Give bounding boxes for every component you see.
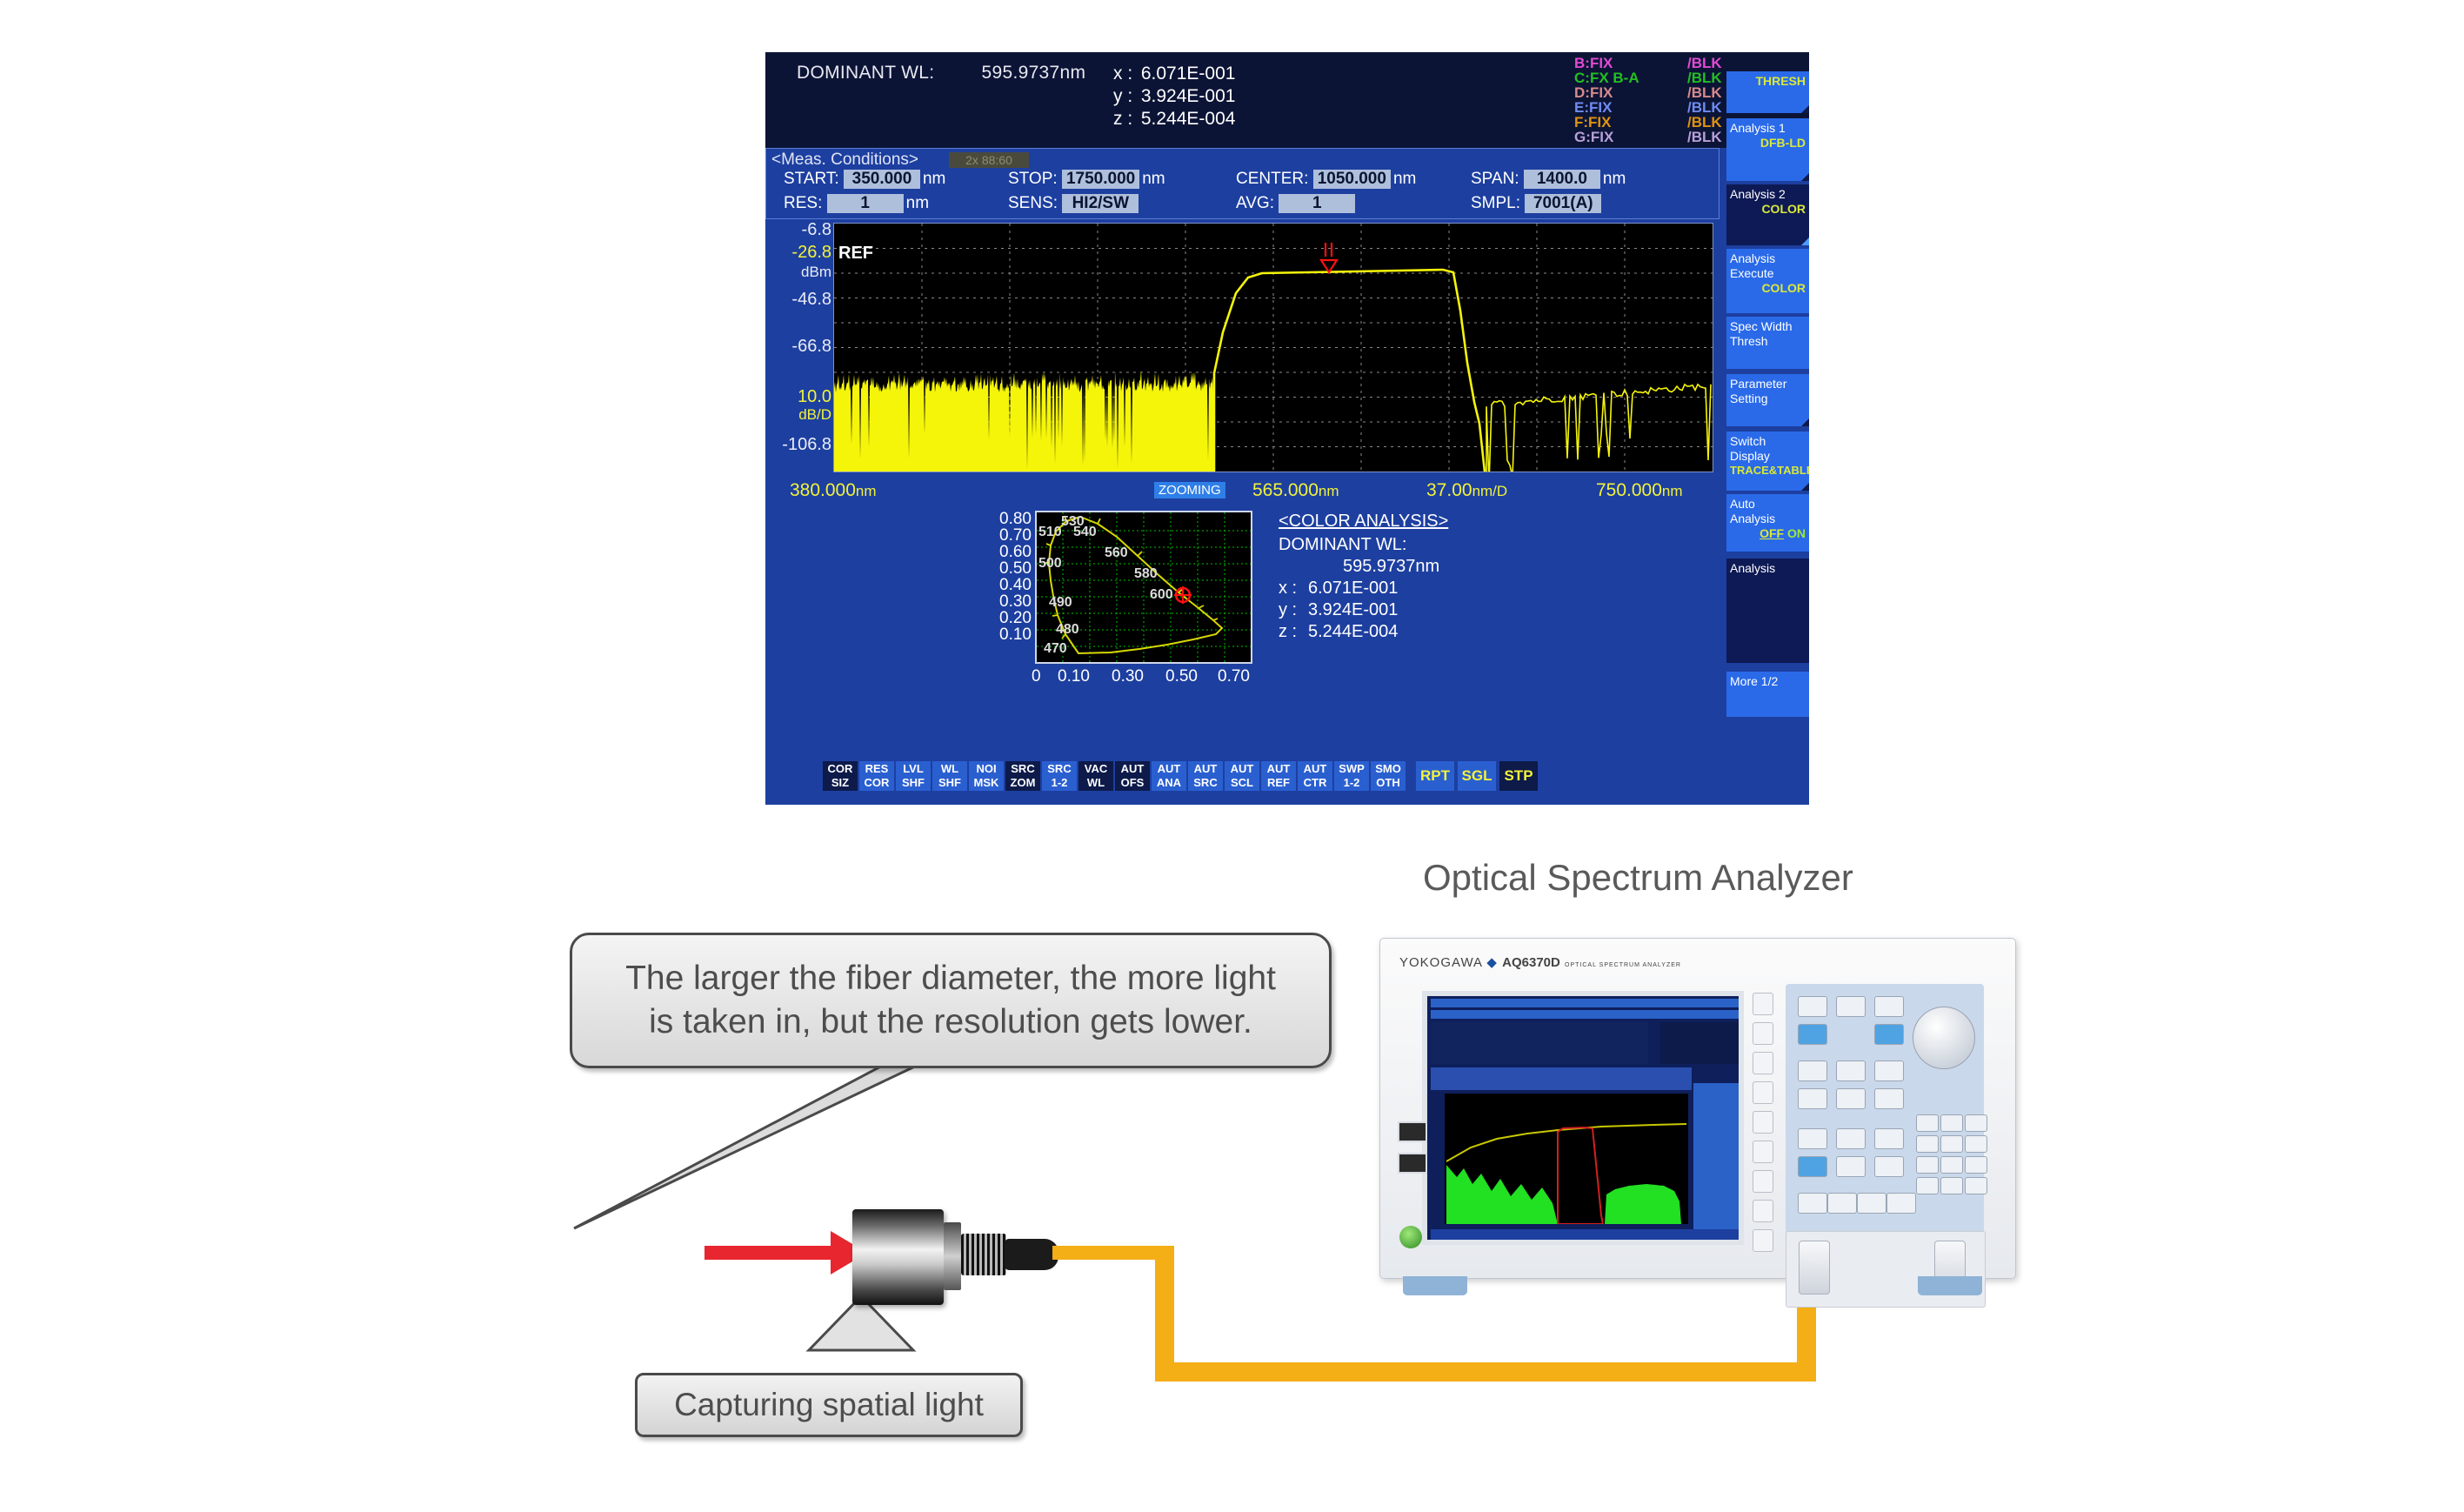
bottom-key-line2: 1-2 — [1042, 776, 1077, 790]
osa-header-panel: DOMINANT WL: 595.9737nm x : 6.071E-001 y… — [765, 52, 1809, 148]
numeric-key[interactable] — [1916, 1177, 1939, 1194]
soft-key-value: DFB-LD — [1730, 136, 1806, 150]
xyz-readout: x : 6.071E-001 y : 3.924E-001 z : 5.244E… — [1113, 63, 1280, 130]
xyz-value: 5.244E-004 — [1141, 108, 1280, 130]
instrument-key[interactable] — [1836, 996, 1866, 1017]
bottom-key-line2: OTH — [1371, 776, 1406, 790]
instrument-soft-key[interactable] — [1753, 1170, 1773, 1193]
cie-wl-500: 500 — [1038, 556, 1062, 572]
instrument-foot — [1403, 1276, 1467, 1295]
soft-key-corner-icon — [1801, 238, 1809, 245]
meas-field-label: START: — [784, 170, 839, 188]
meas-field-label: CENTER: — [1236, 170, 1308, 188]
instrument-brand-label: YOKOGAWA ◆ AQ6370D OPTICAL SPECTRUM ANAL… — [1399, 954, 1681, 970]
bottom-key-line1: COR — [823, 762, 858, 776]
bottom-key-line1: WL — [932, 762, 967, 776]
instrument-graph-area — [1445, 1094, 1688, 1224]
fiber-cable-segment-3 — [1155, 1362, 1816, 1382]
meas-field-unit: nm — [923, 170, 945, 188]
bottom-key-line1: AUT — [1225, 762, 1259, 776]
bottom-key-swp-1-2[interactable]: SWP1-2 — [1334, 761, 1369, 791]
bottom-key-line2: MSK — [969, 776, 1004, 790]
meas-field-smpl[interactable]: SMPL: 7001(A) — [1471, 194, 1604, 213]
instrument-soft-key[interactable] — [1753, 1111, 1773, 1134]
instrument-soft-key[interactable] — [1753, 1141, 1773, 1163]
dominant-wl-readout: DOMINANT WL: 595.9737nm — [797, 63, 1085, 84]
toggle-off[interactable]: OFF — [1760, 526, 1784, 540]
cie-wl-480: 480 — [1056, 622, 1079, 638]
meas-field-unit: nm — [906, 194, 929, 212]
meas-field-value: 1 — [1279, 194, 1355, 213]
meas-field-start[interactable]: START: 350.000nm — [784, 170, 945, 189]
color-analysis-readout: <COLOR ANALYSIS> DOMINANT WL: 595.9737nm… — [1279, 512, 1448, 643]
soft-key-corner-icon — [1801, 418, 1809, 426]
y-tick-ref: -26.8 — [791, 243, 831, 263]
trace-blank-state: /BLK — [1687, 56, 1722, 70]
instrument-key[interactable] — [1836, 1088, 1866, 1109]
instrument-soft-keys[interactable] — [1753, 993, 1772, 1259]
instrument-display — [1422, 991, 1744, 1245]
soft-key-analysis-2[interactable]: Analysis 2COLOR — [1726, 184, 1809, 245]
bottom-key-line1: AUT — [1115, 762, 1150, 776]
bottom-key-aut-ana[interactable]: AUTANA — [1152, 761, 1186, 791]
peak-marker — [1321, 243, 1337, 272]
bottom-key-line1: SRC — [1042, 762, 1077, 776]
soft-key-corner-icon — [1801, 173, 1809, 181]
speech-bubble: The larger the fiber diameter, the more … — [570, 933, 1332, 1068]
trace-status-row: B:FIX/BLK — [1574, 56, 1774, 70]
bottom-key-line2: 1-2 — [1334, 776, 1369, 790]
brand-model: AQ6370 — [1502, 955, 1551, 970]
trace-label: D:FIX — [1574, 85, 1687, 100]
spectrum-graph — [833, 223, 1713, 472]
bottom-key-line2: CTR — [1298, 776, 1332, 790]
x-start-label: 380.000nm — [790, 480, 877, 501]
numeric-key[interactable] — [1965, 1114, 1987, 1132]
soft-key-thresh[interactable]: THRESH — [1726, 71, 1809, 113]
meas-field-value: 1750.000 — [1062, 170, 1139, 189]
bottom-key-aut-ofs[interactable]: AUTOFS — [1115, 761, 1150, 791]
soft-key-menu: THRESHAnalysis 1DFB-LDAnalysis 2COLORAna… — [1726, 71, 1809, 767]
instrument-key[interactable] — [1798, 1193, 1827, 1214]
instrument-soft-key[interactable] — [1753, 1081, 1773, 1104]
meas-field-unit: nm — [1393, 170, 1416, 188]
numeric-key[interactable] — [1916, 1135, 1939, 1153]
instrument-key[interactable] — [1874, 1024, 1904, 1045]
bottom-key-src-zom[interactable]: SRCZOM — [1005, 761, 1040, 791]
soft-key-auto[interactable]: Auto AnalysisOFF ON — [1726, 494, 1809, 552]
sweep-mode-key-sgl[interactable]: SGL — [1458, 761, 1496, 791]
x-stop-label: 750.000nm — [1596, 480, 1683, 501]
bottom-status-keys: CORSIZRESCORLVLSHFWLSHFNOIMSKSRCZOMSRC1-… — [765, 761, 1809, 793]
bottom-key-vac-wl[interactable]: VACWL — [1078, 761, 1113, 791]
meas-field-label: SPAN: — [1471, 170, 1519, 188]
bottom-key-line1: SMO — [1371, 762, 1406, 776]
usb-port[interactable] — [1398, 1121, 1427, 1142]
meas-conditions-title: <Meas. Conditions> — [771, 151, 918, 170]
xyz-row-z: z : 5.244E-004 — [1113, 108, 1280, 130]
instrument-key[interactable] — [1874, 1156, 1904, 1177]
bottom-key-line2: REF — [1261, 776, 1296, 790]
instrument-soft-key[interactable] — [1753, 1022, 1773, 1045]
bottom-key-line2: SHF — [932, 776, 967, 790]
bottom-key-lvl-shf[interactable]: LVLSHF — [896, 761, 931, 791]
trace-blank-state: /BLK — [1687, 70, 1722, 85]
cie-x-tick: 0.70 — [1218, 667, 1250, 686]
trace-label: C:FX B-A — [1574, 70, 1687, 85]
meas-field-label: RES: — [784, 194, 822, 212]
trace-label: F:FIX — [1574, 115, 1687, 130]
numeric-key[interactable] — [1965, 1156, 1987, 1174]
soft-key-value: THRESH — [1730, 74, 1806, 88]
y-tick-0: -6.8 — [802, 220, 831, 240]
instrument-key[interactable] — [1874, 1128, 1904, 1149]
sweep-mode-key-rpt[interactable]: RPT — [1416, 761, 1454, 791]
bottom-key-line2: WL — [1078, 776, 1113, 790]
cie-wl-580: 580 — [1134, 566, 1158, 582]
meas-field-span[interactable]: SPAN: 1400.0nm — [1471, 170, 1626, 189]
speech-bubble-text: The larger the fiber diameter, the more … — [610, 957, 1292, 1044]
bottom-key-line2: SHF — [896, 776, 931, 790]
collimator-collar — [944, 1222, 961, 1290]
soft-key-title: Analysis 1 — [1730, 121, 1806, 136]
toggle-on[interactable]: ON — [1787, 526, 1806, 540]
bottom-key-line2: COR — [859, 776, 894, 790]
bottom-key-aut-ctr[interactable]: AUTCTR — [1298, 761, 1332, 791]
meas-field-avg[interactable]: AVG: 1 — [1236, 194, 1358, 213]
y-scale-value: 10.0 — [798, 387, 831, 407]
instrument-key[interactable] — [1827, 1193, 1857, 1214]
y-tick-2: -46.8 — [791, 290, 831, 310]
trace-blank-state: /BLK — [1687, 100, 1722, 115]
trace-blank-state: /BLK — [1687, 130, 1722, 144]
usb-port[interactable] — [1398, 1153, 1427, 1174]
bottom-key-cor-siz[interactable]: CORSIZ — [823, 761, 858, 791]
numeric-key[interactable] — [1916, 1114, 1939, 1132]
caption-text: Capturing spatial light — [674, 1387, 984, 1423]
soft-key-switch[interactable]: Switch DisplayTRACE&TABLE — [1726, 432, 1809, 491]
cie-locus-svg — [1037, 512, 1251, 662]
numeric-key[interactable] — [1940, 1156, 1963, 1174]
soft-key-title: Analysis Execute — [1730, 251, 1806, 281]
bubble-line-2: is taken in, but the resolution gets low… — [649, 1003, 1252, 1040]
spectrum-x-axis: 380.000nm ZOOMING 565.000nm 37.00nm/D 75… — [765, 480, 1774, 506]
instrument-key[interactable] — [1874, 996, 1904, 1017]
soft-key-title: Auto Analysis — [1730, 497, 1806, 526]
bottom-key-src-1-2[interactable]: SRC1-2 — [1042, 761, 1077, 791]
x-center-label: 565.000nm — [1252, 480, 1339, 501]
bottom-key-wl-shf[interactable]: WLSHF — [932, 761, 967, 791]
instrument-key[interactable] — [1798, 1024, 1827, 1045]
meas-field-stop[interactable]: STOP: 1750.000nm — [1008, 170, 1165, 189]
zooming-badge: ZOOMING — [1154, 482, 1225, 498]
meas-field-sens[interactable]: SENS: HI2/SW — [1008, 194, 1141, 213]
soft-key-value: OFF ON — [1730, 526, 1806, 540]
bottom-key-aut-ref[interactable]: AUTREF — [1261, 761, 1296, 791]
bottom-key-smo-oth[interactable]: SMOOTH — [1371, 761, 1406, 791]
instrument-key[interactable] — [1798, 1088, 1827, 1109]
xyz-value: 3.924E-001 — [1141, 85, 1280, 108]
numeric-key[interactable] — [1916, 1156, 1939, 1174]
osa-instrument-photo: YOKOGAWA ◆ AQ6370D OPTICAL SPECTRUM ANAL… — [1379, 938, 2016, 1279]
bottom-key-line2: SIZ — [823, 776, 858, 790]
color-analysis-x: x :6.071E-001 — [1279, 578, 1448, 599]
trace-label: E:FIX — [1574, 100, 1687, 115]
color-analysis-dom-label: DOMINANT WL: — [1279, 534, 1448, 556]
soft-key-title: Spec Width Thresh — [1730, 319, 1806, 349]
instrument-key[interactable] — [1798, 1060, 1827, 1081]
cie-wl-600: 600 — [1150, 587, 1173, 603]
dominant-wl-value: 595.9737nm — [982, 63, 1086, 83]
trace-label: G:FIX — [1574, 130, 1687, 144]
cie-x-tick: 0.10 — [1058, 667, 1090, 686]
cie-wl-560: 560 — [1105, 545, 1128, 561]
meas-field-label: SENS: — [1008, 194, 1058, 212]
color-analysis-y: y :3.924E-001 — [1279, 599, 1448, 621]
y-tick-bottom: -106.8 — [782, 435, 831, 455]
sweep-mode-key-stp[interactable]: STP — [1499, 761, 1538, 791]
bottom-key-line1: NOI — [969, 762, 1004, 776]
instrument-soft-key[interactable] — [1753, 993, 1773, 1015]
numeric-key[interactable] — [1940, 1135, 1963, 1153]
meas-field-value: 1400.0 — [1524, 170, 1600, 189]
fiber-ferrule — [961, 1234, 1006, 1275]
soft-key-value: COLOR — [1730, 202, 1806, 216]
bottom-key-line1: VAC — [1078, 762, 1113, 776]
soft-key-analysis[interactable]: Analysis ExecuteCOLOR — [1726, 249, 1809, 313]
color-analysis-dom-value: 595.9737nm — [1279, 556, 1448, 578]
xyz-value: 6.071E-001 — [1141, 63, 1280, 85]
ref-level-marker: REF — [838, 244, 873, 264]
cie-wl-490: 490 — [1049, 595, 1072, 611]
bottom-key-line1: AUT — [1188, 762, 1223, 776]
spectrum-trace-svg — [834, 224, 1713, 472]
soft-key-analysis-1[interactable]: Analysis 1DFB-LD — [1726, 118, 1809, 181]
optical-input-port[interactable] — [1799, 1241, 1830, 1295]
bottom-key-line2: SCL — [1225, 776, 1259, 790]
cie-wl-540: 540 — [1073, 525, 1097, 540]
soft-key-analysis[interactable]: Analysis — [1726, 559, 1809, 663]
soft-key-title: Switch Display — [1730, 434, 1806, 464]
instrument-soft-key[interactable] — [1753, 1200, 1773, 1222]
bottom-key-line1: RES — [859, 762, 894, 776]
bottom-key-line1: AUT — [1261, 762, 1296, 776]
instrument-port-bay — [1786, 1231, 1986, 1308]
instrument-key[interactable] — [1798, 1156, 1827, 1177]
color-analysis-z: z :5.244E-004 — [1279, 621, 1448, 643]
bottom-key-line1: LVL — [896, 762, 931, 776]
soft-key-value: COLOR — [1730, 281, 1806, 295]
bottom-key-line2: ANA — [1152, 776, 1186, 790]
bottom-key-res-cor[interactable]: RESCOR — [859, 761, 894, 791]
instrument-key[interactable] — [1874, 1060, 1904, 1081]
bottom-key-line1: SRC — [1005, 762, 1040, 776]
cie-chromaticity-chart: 0.800.700.600.500.400.300.200.10 — [981, 509, 1261, 683]
bottom-key-line1: AUT — [1298, 762, 1332, 776]
cie-x-tick: 0.30 — [1112, 667, 1144, 686]
instrument-key[interactable] — [1836, 1128, 1866, 1149]
diagram-title: Optical Spectrum Analyzer — [1423, 857, 1853, 899]
color-analysis-header: <COLOR ANALYSIS> — [1279, 512, 1448, 532]
bottom-key-line2: SRC — [1188, 776, 1223, 790]
meas-field-center[interactable]: CENTER: 1050.000nm — [1236, 170, 1416, 189]
x-perdiv-label: 37.00nm/D — [1426, 480, 1507, 501]
meas-conditions-badge: 2x 88:60 — [949, 152, 1029, 168]
meas-field-value: 7001(A) — [1525, 194, 1601, 213]
bottom-key-aut-scl[interactable]: AUTSCL — [1225, 761, 1259, 791]
instrument-key[interactable] — [1798, 1128, 1827, 1149]
instrument-soft-key[interactable] — [1753, 1229, 1773, 1252]
soft-key-spec-width[interactable]: Spec Width Thresh — [1726, 317, 1809, 369]
cie-wl-470: 470 — [1044, 641, 1067, 657]
trace-label: B:FIX — [1574, 56, 1687, 70]
xyz-key: x : — [1113, 63, 1136, 85]
bottom-key-line1: SWP — [1334, 762, 1369, 776]
instrument-key[interactable] — [1886, 1193, 1916, 1214]
meas-field-unit: nm — [1603, 170, 1626, 188]
fiber-boot — [1005, 1239, 1058, 1270]
meas-field-value: 1 — [827, 194, 904, 213]
xyz-key: z : — [1113, 108, 1136, 130]
bottom-key-line2: ZOM — [1005, 776, 1040, 790]
y-scale-unit: dB/D — [798, 406, 831, 424]
numeric-key[interactable] — [1965, 1177, 1987, 1194]
cie-y-tick: 0.10 — [981, 626, 1032, 645]
instrument-foot — [1918, 1276, 1982, 1295]
trace-blank-state: /BLK — [1687, 115, 1722, 130]
numeric-key[interactable] — [1940, 1177, 1963, 1194]
instrument-key[interactable] — [1836, 1060, 1866, 1081]
instrument-soft-key[interactable] — [1753, 1052, 1773, 1074]
meas-field-value: 350.000 — [844, 170, 920, 189]
soft-key-corner-icon — [1801, 105, 1809, 113]
bottom-key-line2: OFS — [1115, 776, 1150, 790]
xyz-row-x: x : 6.071E-001 — [1113, 63, 1280, 85]
incoming-light-arrow-shaft — [704, 1246, 839, 1260]
osa-screen-capture: DOMINANT WL: 595.9737nm x : 6.071E-001 y… — [765, 52, 1809, 805]
xyz-row-y: y : 3.924E-001 — [1113, 85, 1280, 108]
brand-diamond-icon: ◆ — [1486, 955, 1498, 970]
bottom-key-noi-msk[interactable]: NOIMSK — [969, 761, 1004, 791]
instrument-key[interactable] — [1798, 996, 1827, 1017]
soft-key-value: TRACE&TABLE — [1730, 464, 1806, 477]
instrument-key[interactable] — [1874, 1088, 1904, 1109]
cie-x-tick: 0 — [1032, 667, 1041, 686]
soft-key-title: Analysis — [1730, 561, 1806, 576]
bottom-key-line1: AUT — [1152, 762, 1186, 776]
numeric-key[interactable] — [1965, 1135, 1987, 1153]
instrument-key[interactable] — [1857, 1193, 1886, 1214]
soft-key-more-1-2[interactable]: More 1/2 — [1726, 672, 1809, 717]
trace-blank-state: /BLK — [1687, 85, 1722, 100]
meas-field-unit: nm — [1142, 170, 1165, 188]
meas-field-value: HI2/SW — [1062, 194, 1139, 213]
meas-field-res[interactable]: RES: 1nm — [784, 194, 929, 213]
brand-series: D — [1551, 955, 1560, 970]
meas-field-label: AVG: — [1236, 194, 1274, 212]
soft-key-title: Parameter Setting — [1730, 377, 1806, 406]
bubble-line-1: The larger the fiber diameter, the more … — [625, 960, 1276, 997]
soft-key-title: Analysis 2 — [1730, 187, 1806, 202]
meas-field-label: SMPL: — [1471, 194, 1520, 212]
meas-field-label: STOP: — [1008, 170, 1058, 188]
soft-key-corner-icon — [1801, 483, 1809, 491]
fiber-cable-segment-1 — [1052, 1246, 1165, 1260]
cie-wl-510: 510 — [1038, 525, 1062, 540]
bottom-key-aut-src[interactable]: AUTSRC — [1188, 761, 1223, 791]
dominant-wl-label: DOMINANT WL: — [797, 63, 934, 83]
numeric-key[interactable] — [1940, 1114, 1963, 1132]
spectrum-y-axis: -6.8 -26.8 dBm -46.8 -66.8 10.0 dB/D -10… — [765, 222, 833, 474]
brand-subtitle: OPTICAL SPECTRUM ANALYZER — [1565, 962, 1681, 968]
xyz-key: y : — [1113, 85, 1136, 108]
fiber-cable-segment-2 — [1155, 1246, 1174, 1376]
brand-name: YOKOGAWA — [1399, 955, 1482, 970]
meas-field-value: 1050.000 — [1313, 170, 1391, 189]
y-unit-dbm: dBm — [801, 264, 831, 281]
instrument-rotary-knob[interactable] — [1913, 1007, 1975, 1069]
soft-key-title: More 1/2 — [1730, 674, 1806, 689]
power-button[interactable] — [1399, 1226, 1422, 1248]
caption-box: Capturing spatial light — [635, 1373, 1023, 1437]
collimator-lens — [852, 1209, 944, 1305]
measurement-conditions-panel: <Meas. Conditions> 2x 88:60 START: 350.0… — [765, 148, 1719, 219]
cie-plot-area: 530 510 540 560 500 580 600 490 480 470 — [1035, 511, 1252, 664]
cie-x-tick: 0.50 — [1165, 667, 1198, 686]
y-tick-3: -66.8 — [791, 337, 831, 357]
instrument-key[interactable] — [1836, 1156, 1866, 1177]
soft-key-parameter[interactable]: Parameter Setting — [1726, 374, 1809, 426]
